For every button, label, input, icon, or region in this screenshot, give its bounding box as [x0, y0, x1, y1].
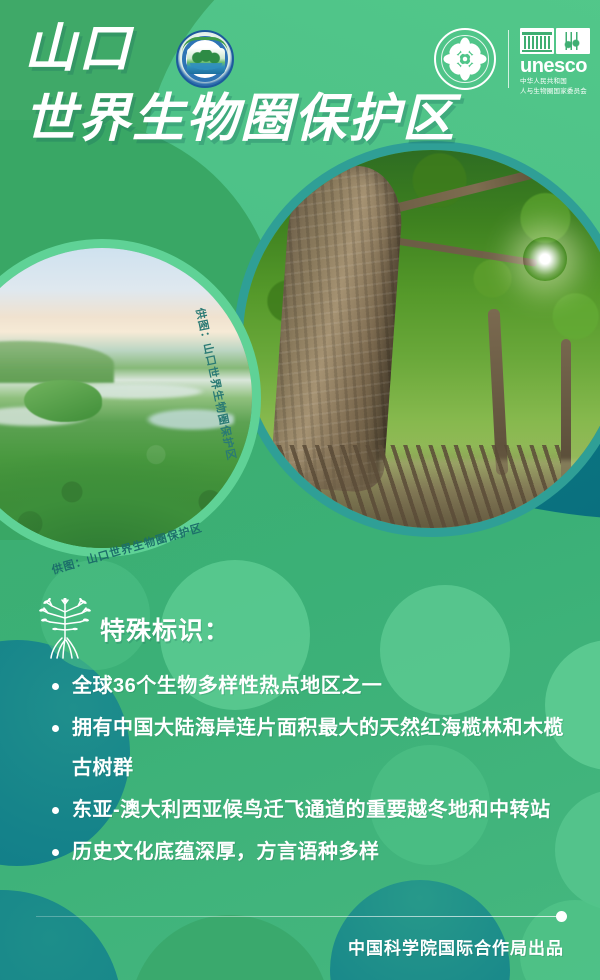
poster-title-line2: 世界生物圈保护区: [24, 90, 456, 148]
unesco-temple-columns: [524, 36, 550, 49]
unesco-temple-icon: [520, 28, 554, 54]
emblem-arc: [182, 37, 228, 53]
list-item: 历史文化底蕴深厚，方言语种多样: [72, 832, 566, 872]
list-item: 全球36个生物多样性热点地区之一: [72, 666, 566, 706]
sun-flare-icon: [523, 237, 567, 281]
logo-divider: [508, 30, 509, 88]
footer-divider: [36, 916, 564, 917]
unesco-temple-base: [522, 50, 552, 52]
poster-canvas: 供图：山口世界生物圈保护区 供图：山口世界生物圈保护区 山口 世界生物圈保护区: [0, 0, 600, 980]
unesco-cn-line2: 人与生物圈国家委员会: [520, 87, 592, 96]
poster-title-line1: 山口: [24, 20, 132, 78]
unesco-mab-symbol: [561, 32, 585, 50]
list-item: 拥有中国大陆海岸连片面积最大的天然红海榄林和木榄古树群: [72, 708, 566, 788]
unesco-wordmark: unesco: [520, 56, 592, 76]
section-header: 特殊标识：: [0, 598, 600, 660]
unesco-temple-roof: [522, 32, 552, 35]
photo-right-image: [243, 150, 600, 528]
chinese-academy-of-sciences-logo-icon: [434, 28, 496, 90]
emblem-wave-icon: [187, 63, 225, 71]
photo-left-canopy: [0, 416, 252, 548]
photo-ancient-mangrove-tree: [243, 150, 600, 528]
section-title: 特殊标识：: [100, 611, 230, 647]
unesco-cn-line1: 中华人民共和国: [520, 77, 592, 86]
cas-flower-icon: [436, 30, 494, 88]
footer-dot-icon: [556, 911, 567, 922]
photo-right-aerial-roots: [266, 445, 561, 528]
unesco-emblem-icon: [520, 28, 590, 54]
mangrove-tree-icon: [36, 598, 94, 660]
poster-header: 山口 世界生物圈保护区: [0, 0, 600, 170]
shankou-reserve-emblem-icon: [176, 30, 234, 88]
footer-producer-text: 中国科学院国际合作局出品: [348, 934, 564, 959]
list-item: 东亚-澳大利西亚候鸟迁飞通道的重要越冬地和中转站: [72, 790, 566, 830]
unesco-logo-block: unesco 中华人民共和国 人与生物圈国家委员会: [520, 28, 592, 96]
main-content: 特殊标识： 全球36个生物多样性热点地区之一 拥有中国大陆海岸连片面积最大的天然…: [0, 598, 600, 874]
highlights-list: 全球36个生物多样性热点地区之一 拥有中国大陆海岸连片面积最大的天然红海榄林和木…: [0, 666, 600, 872]
unesco-mab-icon: [556, 28, 590, 54]
